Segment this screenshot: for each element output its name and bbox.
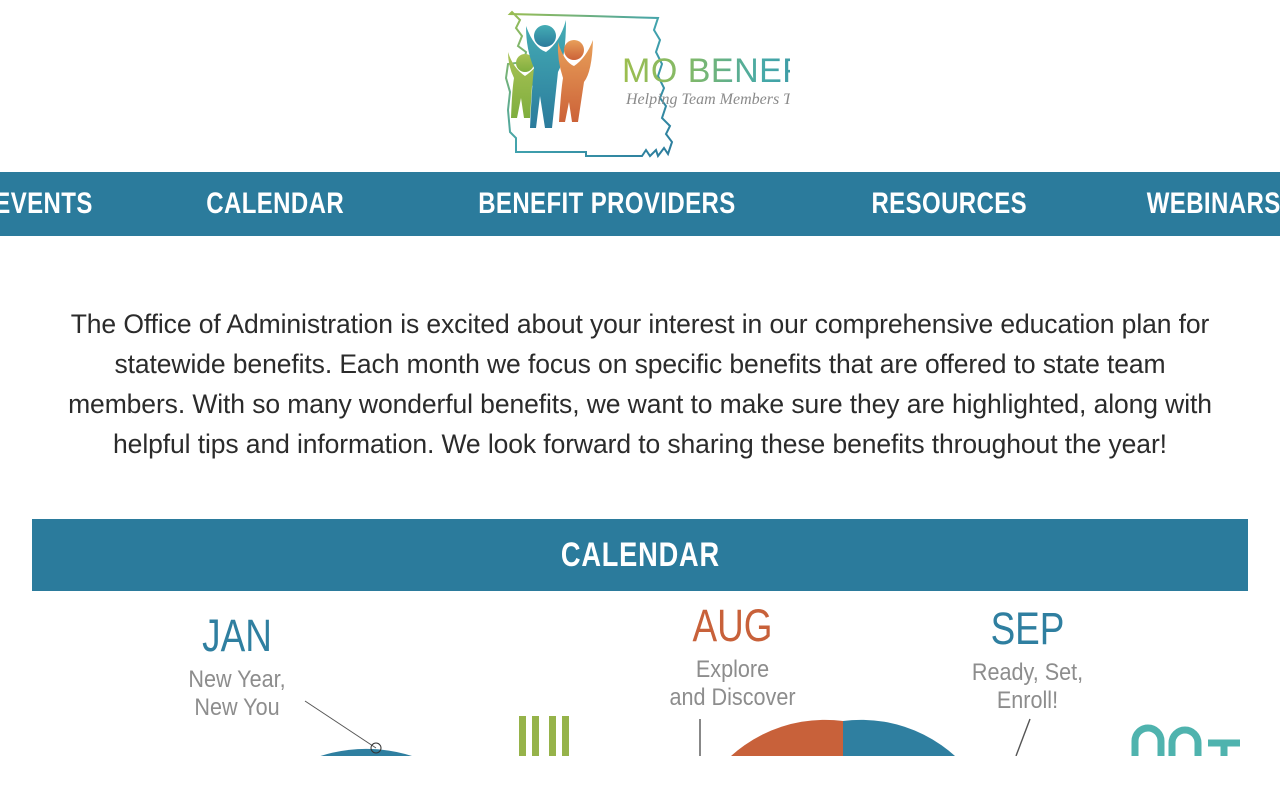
jul-letter-stroke	[519, 716, 526, 756]
nav-item-benefit-providers[interactable]: BENEFIT PROVIDERS	[478, 189, 736, 219]
intro-paragraph: The Office of Administration is excited …	[60, 304, 1220, 464]
logo-wordmark: MO BENEFITS	[622, 52, 790, 90]
calendar-wheel-graphic	[0, 591, 1280, 756]
oct-letter-tops	[1135, 728, 1240, 756]
site-header: MO BENEFITS Helping Team Members Thrive	[0, 0, 1280, 172]
calendar-banner: CALENDAR	[32, 519, 1248, 591]
figure-orange-head-icon	[564, 40, 584, 60]
calendar-banner-title: CALENDAR	[560, 536, 719, 575]
jul-letter-stroke	[562, 716, 569, 756]
jul-letter-stroke	[549, 716, 556, 756]
jul-letter-stroke	[532, 716, 539, 756]
main-navigation: EVENTS CALENDAR BENEFIT PROVIDERS RESOUR…	[0, 172, 1280, 236]
leader-line-sep	[1016, 719, 1030, 756]
nav-item-webinars[interactable]: WEBINARS	[1147, 189, 1280, 219]
leader-line-jan	[305, 701, 376, 748]
nav-item-calendar[interactable]: CALENDAR	[207, 189, 345, 219]
nav-item-events[interactable]: EVENTS	[0, 189, 93, 219]
site-logo[interactable]: MO BENEFITS Helping Team Members Thrive	[490, 6, 790, 166]
pie-wedge-sep	[843, 720, 983, 756]
pie-wedge-jan	[262, 749, 412, 756]
logo-tagline: Helping Team Members Thrive	[625, 91, 790, 108]
figure-teal-head-icon	[534, 25, 556, 47]
mo-benefits-logo-icon: MO BENEFITS Helping Team Members Thrive	[490, 6, 790, 166]
pie-wedge-aug	[703, 720, 843, 756]
nav-item-resources[interactable]: RESOURCES	[871, 189, 1027, 219]
calendar-infographic: JAN New Year, New You AUG Explore and Di…	[0, 591, 1280, 756]
intro-section: The Office of Administration is excited …	[0, 236, 1280, 464]
